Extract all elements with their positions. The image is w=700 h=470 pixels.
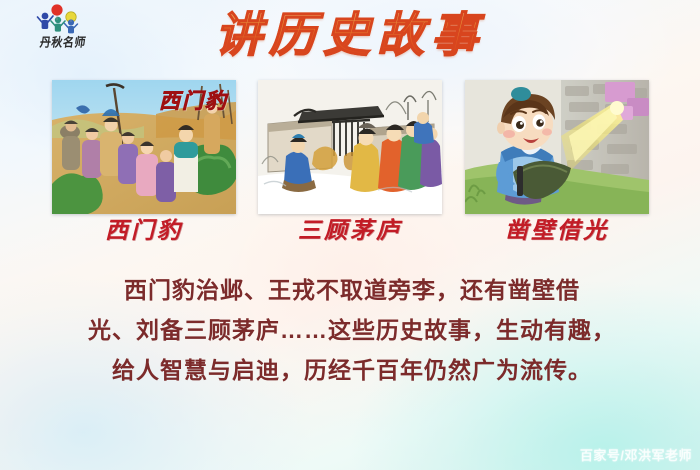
panel-row: 西门豹: [0, 80, 700, 214]
caption-row: 西门豹 三顾茅庐 凿壁借光: [0, 216, 700, 250]
panel-aobijieguang[interactable]: [465, 80, 649, 214]
watermark: 百家号/邓洪军老师: [580, 448, 692, 464]
caption-aobijieguang: 凿壁借光: [465, 216, 649, 246]
slide-canvas: 丹秋名师 讲历史故事: [0, 0, 700, 470]
body-line-3: 给人智慧与启迪，历经千百年仍然广为流传。: [74, 350, 630, 390]
caption-ximenbao: 西门豹: [52, 216, 236, 246]
aobijieguang-illustration: [465, 80, 649, 214]
panel-sangumaolu[interactable]: [258, 80, 442, 214]
body-paragraph: 西门豹治邺、王戎不取道旁李，还有凿壁借 光、刘备三顾茅庐……这些历史故事，生动有…: [74, 270, 630, 390]
panel-ximenbao[interactable]: 西门豹: [52, 80, 236, 214]
body-line-1: 西门豹治邺、王戎不取道旁李，还有凿壁借: [74, 270, 630, 310]
slide-title: 讲历史故事: [0, 6, 700, 66]
panel-overlay-title: 西门豹: [159, 85, 228, 115]
sangumaolu-illustration: [258, 80, 442, 214]
caption-sangumaolu: 三顾茅庐: [258, 216, 442, 246]
body-line-2: 光、刘备三顾茅庐……这些历史故事，生动有趣，: [74, 310, 630, 350]
